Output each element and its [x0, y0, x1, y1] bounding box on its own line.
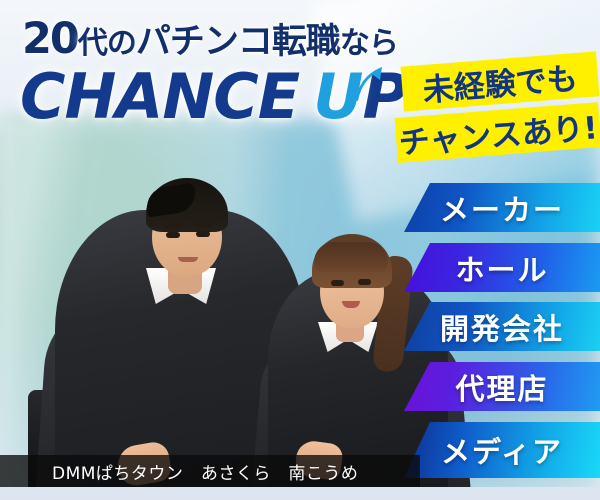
category-button-agency[interactable]: 代理店 [404, 362, 600, 411]
advertisement-banner: 20代のパチンコ転職なら CHANCEUP 未経験でも チャンスあり! メーカー… [0, 0, 600, 500]
category-label: メーカー [440, 187, 564, 229]
category-button-media[interactable]: メディア [404, 422, 600, 478]
category-label: 開発会社 [440, 306, 564, 348]
category-label: 代理店 [455, 366, 548, 408]
logo-word-up: UP [313, 60, 407, 133]
headline-prefix: 代の [78, 26, 136, 61]
logo-letter-u: U [313, 66, 362, 128]
category-label: メディア [441, 429, 563, 471]
headline: 20代のパチンコ転職なら [22, 18, 398, 61]
category-button-developer[interactable]: 開発会社 [404, 302, 600, 351]
headline-main: パチンコ転職 [136, 22, 340, 62]
caption-text: DMMぱちタウン あさくら 南こうめ [52, 459, 358, 484]
logo-word-chance: CHANCE [20, 60, 299, 133]
bottom-strip [0, 487, 600, 500]
headline-number: 20 [22, 14, 78, 64]
category-button-maker[interactable]: メーカー [404, 183, 600, 232]
category-label: ホール [455, 247, 548, 289]
caption-bar: DMMぱちタウン あさくら 南こうめ [0, 455, 420, 487]
logo-chance-up: CHANCEUP [20, 66, 407, 128]
category-button-hall[interactable]: ホール [404, 243, 600, 292]
headline-suffix: なら [340, 26, 398, 61]
